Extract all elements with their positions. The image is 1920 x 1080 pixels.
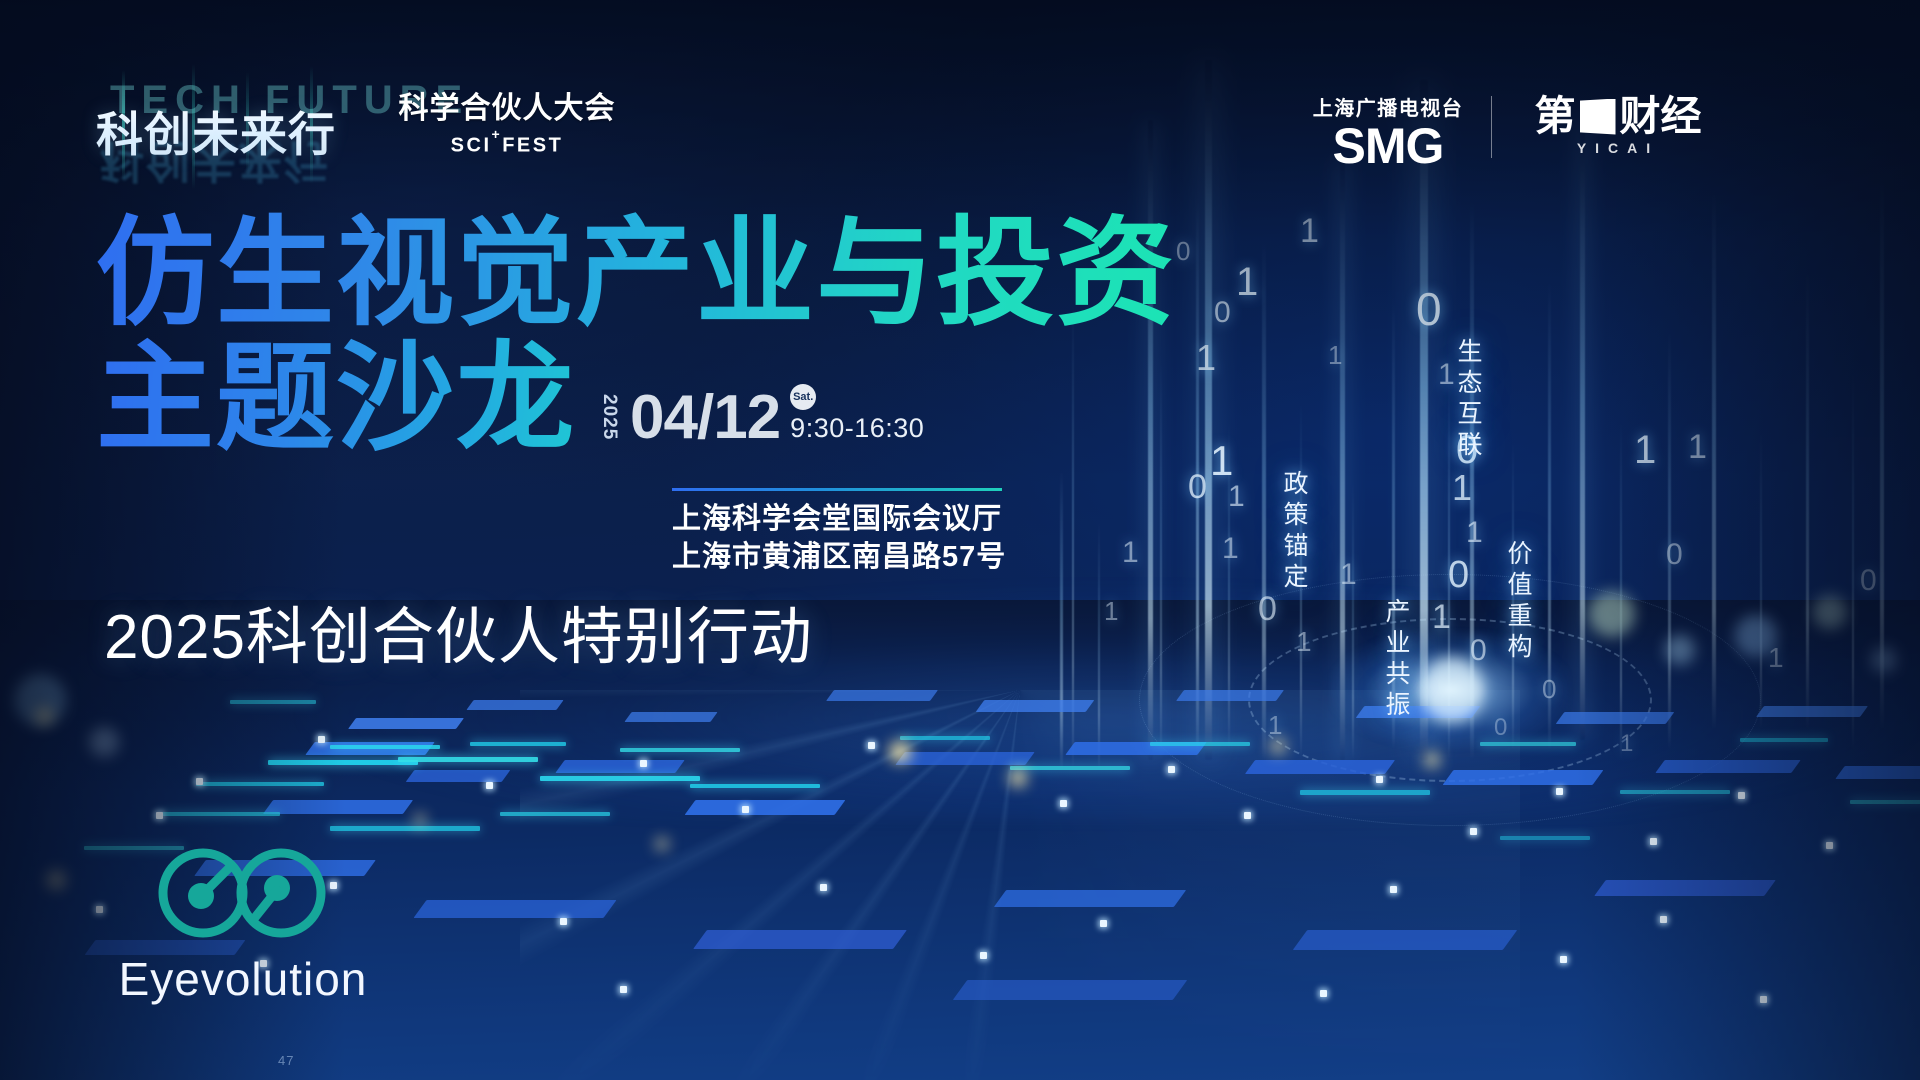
bokeh-light <box>1420 658 1484 722</box>
data-bar <box>1850 800 1920 804</box>
grid-node <box>1100 920 1107 927</box>
data-bar <box>900 736 990 740</box>
data-bar <box>330 745 440 749</box>
grid-node <box>1738 792 1745 799</box>
logo-eyevolution: Eyevolution <box>98 838 388 1006</box>
data-bar <box>1500 836 1590 840</box>
title-line-2: 主题沙龙 <box>96 337 576 462</box>
light-beam <box>1420 80 1428 760</box>
data-bar <box>1740 738 1828 742</box>
subtitle: 2025科创合伙人特别行动 <box>104 586 813 676</box>
bokeh-light <box>1009 769 1027 787</box>
grid-node <box>1390 886 1397 893</box>
light-beam <box>1098 520 1100 770</box>
grid-node <box>1320 990 1327 997</box>
venue-rule <box>672 488 1002 491</box>
date-time: 9:30-16:30 <box>790 415 924 442</box>
grid-node <box>1470 828 1477 835</box>
data-panel <box>1835 766 1920 779</box>
bokeh-light <box>1424 752 1440 768</box>
yicai-mark-icon <box>1580 99 1616 135</box>
binary-digit: 0 <box>1494 716 1507 740</box>
grid-node <box>742 806 749 813</box>
scifest-cn: 科学合伙人大会 <box>392 92 622 125</box>
grid-node <box>820 884 827 891</box>
binary-digit: 1 <box>1688 430 1707 464</box>
keyword-label: 政策锚定 <box>1276 470 1312 594</box>
data-panel <box>826 690 938 701</box>
logo-divider <box>1491 96 1492 158</box>
date-month-day: 04/12 <box>630 390 780 446</box>
keyword-label: 生态互联 <box>1450 338 1486 462</box>
tech-future-cn: 科创未来行 <box>96 96 336 165</box>
smg-abbr: SMG <box>1308 123 1468 171</box>
binary-digit: 0 <box>1542 676 1556 702</box>
scifest-en-suffix: FEST <box>502 135 563 157</box>
binary-digit: 1 <box>1222 534 1239 564</box>
grid-node <box>1168 766 1175 773</box>
data-bar <box>1010 766 1130 770</box>
venue-line-2: 上海市黄浦区南昌路57号 <box>672 538 1006 576</box>
venue-block: 上海科学会堂国际会议厅 上海市黄浦区南昌路57号 <box>672 488 1006 577</box>
bokeh-light <box>414 814 426 826</box>
grid-node <box>1556 788 1563 795</box>
bokeh-light <box>889 741 911 763</box>
scifest-en: SCI+FEST <box>392 131 622 158</box>
binary-digit: 1 <box>1268 712 1282 738</box>
light-beam <box>1806 270 1809 730</box>
yicai-en: YICAI <box>1508 140 1728 156</box>
date-row: 2025 04/12 Sat. 9:30-16:30 <box>598 384 924 446</box>
grid-node <box>1660 916 1667 923</box>
logo-scifest: 科学合伙人大会 SCI+FEST <box>392 92 622 158</box>
grid-node <box>620 986 627 993</box>
grid-node <box>1244 812 1251 819</box>
light-beam <box>1205 60 1212 760</box>
data-panel <box>1443 770 1604 785</box>
binary-digit: 1 <box>1340 560 1357 590</box>
binary-digit: 1 <box>1122 538 1139 568</box>
grid-node <box>1060 800 1067 807</box>
bokeh-light <box>1871 647 1897 673</box>
binary-digit: 0 <box>1448 556 1469 594</box>
binary-digit: 0 <box>1176 238 1190 264</box>
data-bar <box>470 742 566 746</box>
data-panel <box>976 700 1095 712</box>
binary-digit: 1 <box>1452 470 1472 506</box>
data-panel <box>1245 760 1395 774</box>
binary-digit: 0 <box>1860 566 1877 596</box>
grid-node <box>196 778 203 785</box>
corner-mark: 47 <box>278 1053 294 1068</box>
yicai-cn: 第 财经 <box>1508 96 1728 137</box>
binary-digit: 1 <box>1432 600 1451 634</box>
binary-digit: 0 <box>1258 592 1277 626</box>
light-beam <box>1340 160 1345 760</box>
light-beam <box>1060 470 1063 770</box>
grid-node <box>318 736 325 743</box>
event-poster: 10101110101011010110101101011101 TECH FU… <box>0 0 1920 1080</box>
light-beam <box>1620 420 1622 760</box>
grid-node <box>1826 842 1833 849</box>
bokeh-light <box>1589 591 1635 637</box>
data-panel <box>994 890 1186 907</box>
yicai-cn-first: 第 <box>1535 96 1576 137</box>
date-weekday-badge: Sat. <box>790 384 816 410</box>
grid-node <box>1376 776 1383 783</box>
data-panel <box>466 700 563 710</box>
binary-digit: 1 <box>1328 342 1342 368</box>
binary-digit: 0 <box>1416 286 1442 332</box>
data-bar <box>230 700 316 704</box>
data-bar <box>330 826 480 831</box>
binary-digit: 0 <box>1666 540 1683 570</box>
logo-tech-future: TECH FUTURE 科创未来行 科创未来行 <box>96 78 361 168</box>
data-panel <box>263 800 413 814</box>
title-line-2-row: 主题沙龙 2025 04/12 Sat. 9:30-16:30 <box>96 337 1176 462</box>
data-panel <box>1594 880 1776 896</box>
data-panel <box>1655 760 1800 773</box>
grid-node <box>1650 838 1657 845</box>
data-bar <box>196 782 324 786</box>
grid-node <box>156 812 163 819</box>
light-beam <box>1352 480 1354 760</box>
data-panel <box>953 980 1188 1000</box>
binary-digit: 0 <box>1470 636 1487 666</box>
venue-line-1: 上海科学会堂国际会议厅 <box>672 500 1006 538</box>
data-bar <box>1480 742 1576 746</box>
data-bar <box>690 784 820 788</box>
data-panel <box>693 930 907 949</box>
title-block: 仿生视觉产业与投资 主题沙龙 2025 04/12 Sat. 9:30-16:3… <box>96 212 1176 462</box>
data-panel <box>1293 930 1518 950</box>
binary-digit: 1 <box>1196 340 1216 376</box>
yicai-cn-rest: 财经 <box>1620 96 1702 137</box>
date-block: 2025 04/12 Sat. 9:30-16:30 <box>598 384 924 462</box>
data-panel <box>348 718 464 729</box>
light-beam <box>1580 120 1585 740</box>
data-panel <box>1176 690 1284 701</box>
data-panel <box>413 900 616 918</box>
keyword-label: 产业共振 <box>1378 598 1414 722</box>
grid-node <box>1760 996 1767 1003</box>
data-bar <box>398 757 538 762</box>
grid-node <box>980 952 987 959</box>
light-beam <box>1712 190 1716 730</box>
bokeh-light <box>655 837 669 851</box>
grid-node <box>640 760 647 767</box>
data-bar <box>540 776 700 781</box>
title-line-1: 仿生视觉产业与投资 <box>96 212 1176 337</box>
eyevolution-infinity-icon <box>153 838 333 948</box>
light-beam <box>1262 240 1266 760</box>
binary-digit: 1 <box>1634 430 1656 470</box>
data-panel <box>1756 706 1868 717</box>
bokeh-light <box>89 727 119 757</box>
data-bar <box>620 748 740 752</box>
scifest-en-plus: + <box>492 126 503 142</box>
bokeh-light <box>1270 738 1286 754</box>
binary-digit: 1 <box>1296 628 1312 656</box>
logo-smg: 上海广播电视台 SMG <box>1308 92 1468 171</box>
data-bar <box>500 812 610 816</box>
data-panel <box>1556 712 1675 724</box>
data-panel <box>406 770 511 782</box>
light-beam <box>1880 170 1884 730</box>
binary-digit: 1 <box>1768 644 1784 672</box>
data-bar <box>160 812 280 816</box>
data-bar <box>268 760 418 765</box>
grid-node <box>486 782 493 789</box>
data-panel <box>895 752 1034 765</box>
bokeh-light <box>1665 635 1695 665</box>
binary-digit: 1 <box>1620 732 1633 756</box>
binary-digit: 1 <box>1300 214 1319 248</box>
light-beam <box>1760 430 1762 730</box>
grid-node <box>1560 956 1567 963</box>
binary-digit: 1 <box>1466 518 1483 548</box>
data-bar <box>1300 790 1430 795</box>
data-bar <box>1620 790 1730 794</box>
smg-cn: 上海广播电视台 <box>1308 92 1468 121</box>
binary-digit: 1 <box>1228 482 1245 512</box>
keyword-label: 价值重构 <box>1500 540 1536 664</box>
binary-digit: 1 <box>1210 440 1233 482</box>
binary-digit: 1 <box>1236 262 1258 302</box>
grid-node <box>868 742 875 749</box>
eyevolution-wordmark: Eyevolution <box>98 952 388 1006</box>
data-bar <box>1150 742 1250 746</box>
light-beam <box>1852 370 1854 750</box>
bokeh-light <box>1813 595 1847 629</box>
logo-yicai: 第 财经 YICAI <box>1508 96 1728 156</box>
binary-digit: 0 <box>1214 298 1231 328</box>
date-time-group: Sat. 9:30-16:30 <box>790 384 924 446</box>
bokeh-light <box>46 870 66 890</box>
grid-node <box>560 918 567 925</box>
data-panel <box>685 800 846 815</box>
scifest-en-prefix: SCI <box>451 135 492 157</box>
data-panel <box>624 712 717 722</box>
data-panel <box>555 760 684 773</box>
date-year: 2025 <box>598 394 620 446</box>
binary-digit: 0 <box>1188 470 1207 504</box>
binary-digit: 1 <box>1104 598 1118 624</box>
bokeh-light <box>35 707 53 725</box>
